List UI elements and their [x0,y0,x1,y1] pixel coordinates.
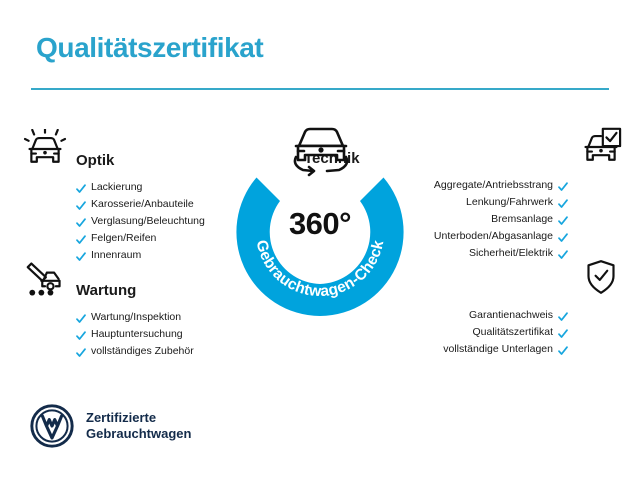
check-icon [558,345,568,355]
list-item-label: Hauptuntersuchung [91,326,183,343]
title-divider [31,88,609,90]
volkswagen-wordmark: Zertifizierte Gebrauchtwagen [86,410,191,443]
list-item: vollständiges Zubehör [76,343,322,360]
check-icon [558,232,568,242]
badge-curved-label: Gebrauchtwagen-Check [253,238,388,300]
check-icon [76,234,86,244]
list-item-label: Bremsanlage [491,211,553,228]
volkswagen-logo [30,404,74,448]
footer-line-2: Gebrauchtwagen [86,426,191,442]
list-item-label: Wartung/Inspektion [91,309,181,326]
list-item-label: vollständige Unterlagen [443,341,553,358]
check-icon [76,200,86,210]
list-item-label: Felgen/Reifen [91,230,156,247]
section-title-wartung: Wartung [76,282,136,303]
certificate-page: Qualitätszertifikat [0,0,640,480]
badge-ring-shape [236,178,403,317]
check-icon [558,181,568,191]
check-icon [76,183,86,193]
check-icon [76,313,86,323]
car-front-shine-icon [22,128,68,170]
list-item-label: Lenkung/Fahrwerk [466,194,553,211]
list-item-label: Qualitätszertifikat [472,324,553,341]
badge-360-gebrauchtwagen-check: Gebrauchtwagen-Check 360° [236,148,404,316]
car-front-checkbox-icon [578,126,624,168]
section-title-optik: Optik [76,152,114,173]
list-item-label: Aggregate/Antriebsstrang [434,177,553,194]
page-title: Qualitätszertifikat [36,34,263,62]
list-item: Qualitätszertifikat [304,324,568,341]
wrench-car-service-icon [22,258,68,300]
list-item: vollständige Unterlagen [304,341,568,358]
check-icon [558,215,568,225]
check-icon [558,328,568,338]
list-item-label: vollständiges Zubehör [91,343,194,360]
volkswagen-footer: Zertifizierte Gebrauchtwagen [30,404,191,448]
list-item: Hauptuntersuchung [76,326,322,343]
check-icon [76,347,86,357]
list-item-label: Verglasung/Beleuchtung [91,213,205,230]
check-icon [558,311,568,321]
check-icon [76,330,86,340]
list-item-label: Unterboden/Abgasanlage [434,228,553,245]
list-item-label: Karosserie/Anbauteile [91,196,194,213]
check-icon [76,217,86,227]
footer-line-1: Zertifizierte [86,410,191,426]
check-icon [558,198,568,208]
shield-check-icon [578,256,624,298]
checklist-wartung: Wartung/Inspektion Hauptuntersuchung vol… [22,309,322,360]
car-rotate-360-icon [283,120,359,178]
badge-degrees: 360° [236,206,404,242]
list-item-label: Garantienachweis [469,307,553,324]
list-item-label: Lackierung [91,179,142,196]
